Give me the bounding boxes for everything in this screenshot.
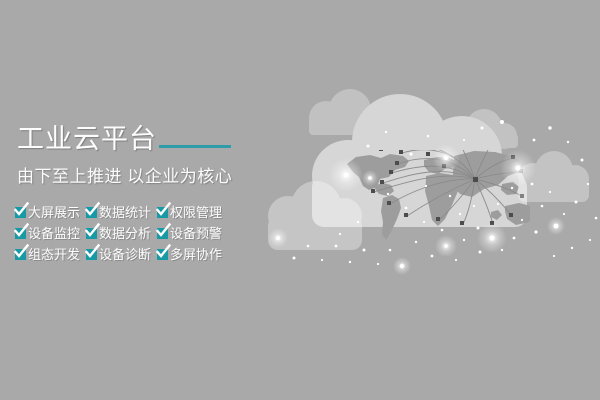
page-title: 工业云平台 xyxy=(17,124,157,154)
hub-node xyxy=(473,177,478,182)
feature-label: 设备预警 xyxy=(170,226,222,241)
feature-item[interactable]: 权限管理 xyxy=(157,202,225,223)
feature-item[interactable]: 大屏展示 xyxy=(15,202,83,223)
feature-item[interactable]: 数据分析 xyxy=(86,223,154,244)
feature-item[interactable]: 数据统计 xyxy=(86,202,154,223)
checkbox-checked-icon xyxy=(15,228,26,239)
checkbox-checked-icon xyxy=(86,249,97,260)
feature-label: 多屏协作 xyxy=(170,247,222,262)
feature-item[interactable]: 设备诊断 xyxy=(86,244,154,265)
checkbox-checked-icon xyxy=(86,228,97,239)
feature-label: 设备诊断 xyxy=(99,247,151,262)
feature-checklist: 大屏展示 数据统计 权限管理 设备监控 xyxy=(15,202,225,265)
industrial-cloud-platform-banner: 工业云平台 由下至上推进 以企业为核心 大屏展示 数据统计 xyxy=(0,0,600,400)
feature-label: 大屏展示 xyxy=(28,205,80,220)
cloud-world-network-illustration xyxy=(250,80,600,320)
feature-label: 设备监控 xyxy=(28,226,80,241)
feature-item[interactable]: 设备监控 xyxy=(15,223,83,244)
checkbox-checked-icon xyxy=(15,249,26,260)
feature-item[interactable]: 设备预警 xyxy=(157,223,225,244)
accent-rule xyxy=(159,145,231,148)
checkbox-checked-icon xyxy=(157,207,168,218)
checkbox-checked-icon xyxy=(157,249,168,260)
feature-label: 数据统计 xyxy=(99,205,151,220)
checkbox-checked-icon xyxy=(86,207,97,218)
banner-copy: 工业云平台 由下至上推进 以企业为核心 大屏展示 数据统计 xyxy=(0,0,250,400)
checkbox-checked-icon xyxy=(157,228,168,239)
feature-item[interactable]: 多屏协作 xyxy=(157,244,225,265)
checkbox-checked-icon xyxy=(15,207,26,218)
headline-row: 工业云平台 xyxy=(17,124,231,154)
feature-label: 组态开发 xyxy=(28,247,80,262)
feature-label: 权限管理 xyxy=(170,205,222,220)
feature-label: 数据分析 xyxy=(99,226,151,241)
subtitle: 由下至上推进 以企业为核心 xyxy=(17,166,232,188)
feature-item[interactable]: 组态开发 xyxy=(15,244,83,265)
